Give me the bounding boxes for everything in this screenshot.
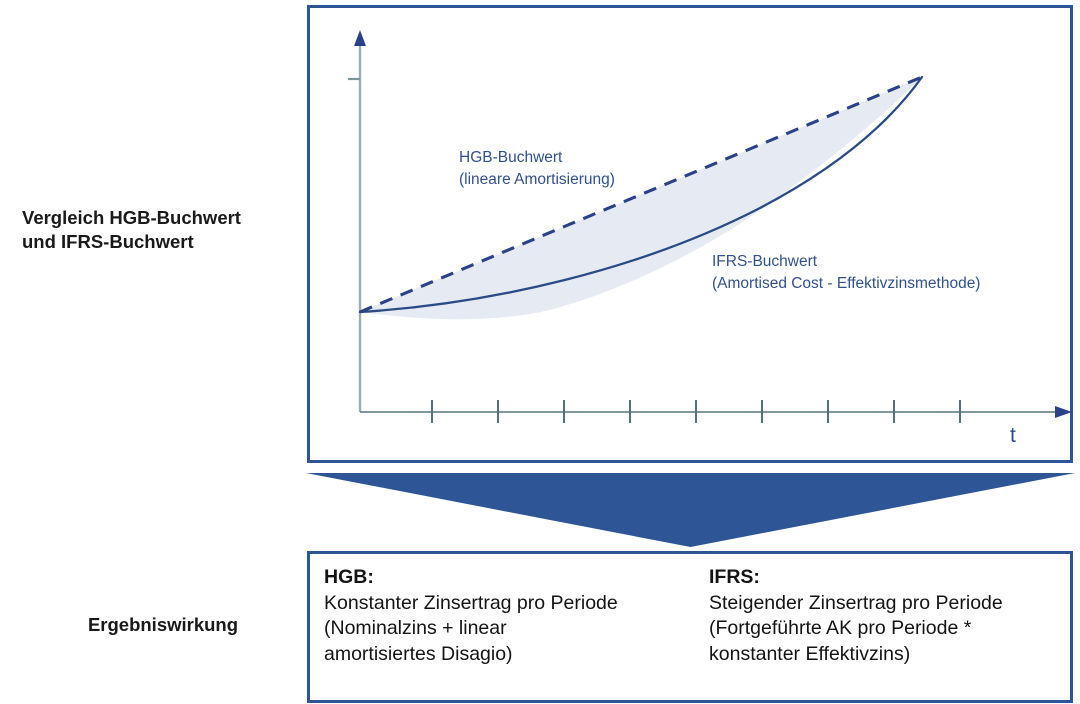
chart-annotation-hgb-line1: HGB-Buchwert [459,147,615,169]
section-label-result-effect: Ergebniswirkung [22,613,304,637]
results-ifrs-line2: (Fortgeführte AK pro Periode * [709,616,1062,641]
results-hgb-heading: HGB: [324,565,687,590]
results-column-ifrs: IFRS: Steigender Zinsertrag pro Periode … [695,554,1070,700]
x-axis-arrowhead [1055,406,1072,418]
chart-annotation-hgb: HGB-Buchwert (lineare Amortisierung) [459,147,615,192]
chart-annotation-hgb-line2: (lineare Amortisierung) [459,169,615,191]
results-ifrs-body: Steigender Zinsertrag pro Periode (Fortg… [709,591,1062,667]
results-hgb-line2: (Nominalzins + linear [324,616,687,641]
y-axis-arrowhead [354,30,366,46]
chart-annotation-ifrs-line1: IFRS-Buchwert [712,251,980,273]
results-hgb-line3: amortisiertes Disagio) [324,642,687,667]
results-ifrs-line1: Steigender Zinsertrag pro Periode [709,591,1062,616]
results-hgb-body: Konstanter Zinsertrag pro Periode (Nomin… [324,591,687,667]
chart-annotation-ifrs-line2: (Amortised Cost - Effektivzinsmethode) [712,273,980,295]
downward-triangle-icon [306,473,1075,547]
results-ifrs-heading: IFRS: [709,565,1062,590]
results-column-hgb: HGB: Konstanter Zinsertrag pro Periode (… [310,554,695,700]
chart-panel: HGB-Buchwert (lineare Amortisierung) IFR… [307,5,1073,463]
downward-triangle-connector [306,473,1075,547]
section-label-comparison: Vergleich HGB-Buchwert und IFRS-Buchwert [22,206,302,255]
results-ifrs-line3: konstanter Effektivzins) [709,642,1062,667]
results-box: HGB: Konstanter Zinsertrag pro Periode (… [307,551,1073,703]
results-hgb-line1: Konstanter Zinsertrag pro Periode [324,591,687,616]
section-label-comparison-line1: Vergleich HGB-Buchwert [22,207,241,228]
book-value-comparison-chart [310,8,1076,466]
section-label-comparison-line2: und IFRS-Buchwert [22,230,302,254]
x-axis-label: t [1010,424,1016,448]
chart-annotation-ifrs: IFRS-Buchwert (Amortised Cost - Effektiv… [712,251,980,296]
